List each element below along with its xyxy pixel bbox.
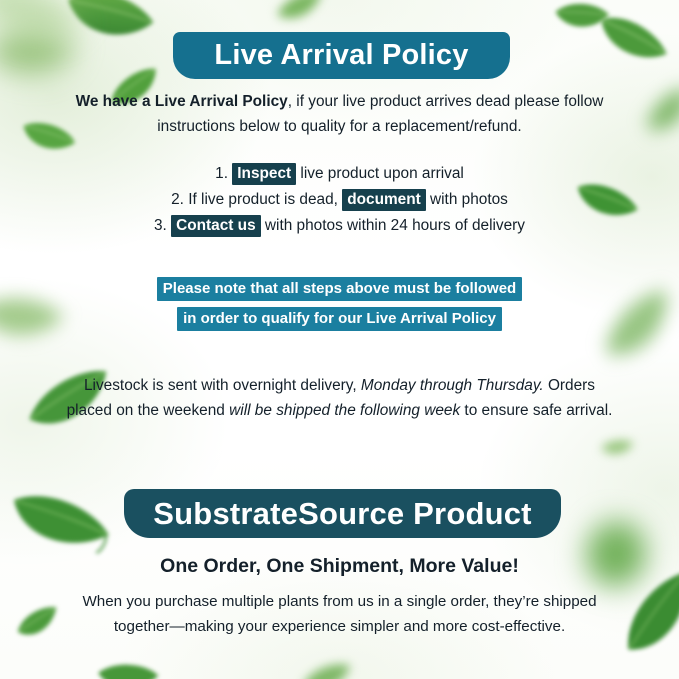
intro-lead: We have a Live Arrival Policy — [76, 93, 288, 110]
note-line-2-wrap: in order to qualify for our Live Arrival… — [60, 304, 619, 334]
step-number: 1. — [215, 165, 228, 182]
livestock-italic-1: Monday through Thursday. — [361, 377, 544, 394]
livestock-italic-2: will be shipped the following week — [229, 402, 460, 419]
note-line-1-wrap: Please note that all steps above must be… — [60, 274, 619, 304]
substratesource-product-banner: SubstrateSource Product — [124, 489, 561, 538]
intro-paragraph: We have a Live Arrival Policy, if your l… — [60, 90, 619, 140]
step-after: with photos — [426, 191, 508, 208]
content-layer: Live Arrival Policy We have a Live Arriv… — [0, 0, 679, 679]
livestock-shipping-paragraph: Livestock is sent with overnight deliver… — [60, 374, 619, 424]
value-section-heading: One Order, One Shipment, More Value! — [60, 555, 619, 578]
value-section-body: When you purchase multiple plants from u… — [60, 590, 619, 639]
policy-note: Please note that all steps above must be… — [60, 274, 619, 334]
note-line-2: in order to qualify for our Live Arrival… — [177, 307, 502, 331]
step-before: If live product is dead, — [184, 191, 342, 208]
step-highlight: document — [342, 189, 426, 211]
step-after: live product upon arrival — [296, 165, 464, 182]
step-number: 2. — [171, 191, 184, 208]
step-highlight: Contact us — [171, 215, 261, 237]
step-highlight: Inspect — [232, 163, 296, 185]
live-arrival-policy-banner: Live Arrival Policy — [173, 32, 510, 79]
livestock-part-3: to ensure safe arrival. — [460, 402, 612, 419]
step-after: with photos within 24 hours of delivery — [261, 217, 525, 234]
list-item: 2. If live product is dead, document wit… — [60, 191, 619, 209]
promo-graphic: Live Arrival Policy We have a Live Arriv… — [0, 0, 679, 679]
list-item: 1. Inspect live product upon arrival — [60, 165, 619, 183]
list-item: 3. Contact us with photos within 24 hour… — [60, 217, 619, 235]
livestock-part-1: Livestock is sent with overnight deliver… — [84, 377, 361, 394]
note-line-1: Please note that all steps above must be… — [157, 277, 522, 301]
step-number: 3. — [154, 217, 167, 234]
steps-list: 1. Inspect live product upon arrival 2. … — [60, 165, 619, 243]
